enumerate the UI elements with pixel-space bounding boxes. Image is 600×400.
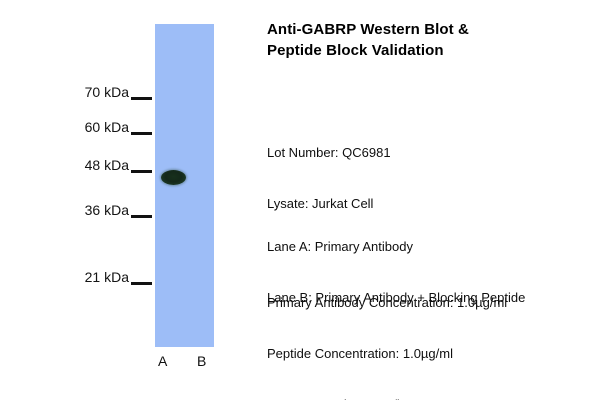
molecular-weight-ladder: 70 kDa 60 kDa 48 kDa 36 kDa 21 kDa [0,0,155,400]
peptide-concentration-text: Peptide Concentration: 1.0µg/ml [267,345,507,362]
figure-title: Anti-GABRP Western Blot & Peptide Block … [267,19,587,61]
lane-a-description: Lane A: Primary Antibody [267,238,525,255]
gel-panel [155,24,214,347]
lysate-quantity-text: Lysate Quantity: 25µg/lane [267,396,507,400]
marker-21kda-label: 21 kDa [85,268,129,286]
western-blot-figure: Anti-GABRP Western Blot & Peptide Block … [0,0,600,400]
marker-60kda-label: 60 kDa [85,118,129,136]
figure-title-line-2: Peptide Block Validation [267,40,587,61]
marker-60kda: 60 kDa [85,118,152,136]
lane-label-a: A [158,352,167,370]
marker-21kda: 21 kDa [85,268,152,286]
marker-21kda-tick-icon [131,282,152,285]
marker-48kda: 48 kDa [85,156,152,174]
protein-band-lane-a [161,170,186,185]
marker-70kda-label: 70 kDa [85,83,129,101]
lot-number-text: Lot Number: QC6981 [267,144,391,161]
marker-36kda-tick-icon [131,215,152,218]
lane-label-row: A B [155,352,214,372]
marker-36kda-label: 36 kDa [85,201,129,219]
lane-label-b: B [197,352,206,370]
marker-48kda-label: 48 kDa [85,156,129,174]
marker-60kda-tick-icon [131,132,152,135]
marker-48kda-tick-icon [131,170,152,173]
parameters-block: Primary Antibody Concentration: 1.0µg/ml… [267,260,507,400]
marker-36kda: 36 kDa [85,201,152,219]
marker-70kda-tick-icon [131,97,152,100]
primary-antibody-concentration-text: Primary Antibody Concentration: 1.0µg/ml [267,294,507,311]
figure-title-line-1: Anti-GABRP Western Blot & [267,19,587,40]
marker-70kda: 70 kDa [85,83,152,101]
